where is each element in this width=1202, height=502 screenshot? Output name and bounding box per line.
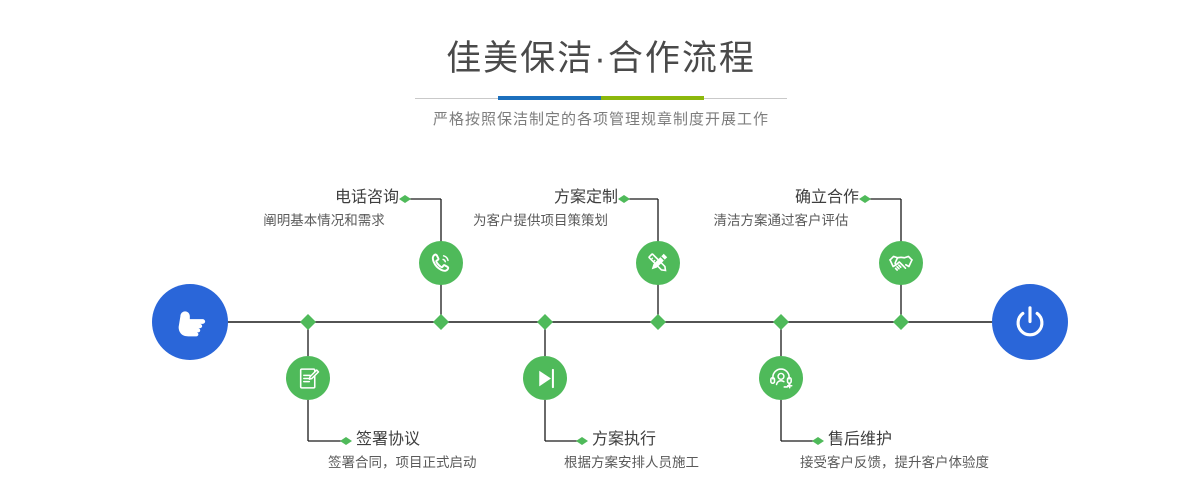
spine-diamond-5 bbox=[893, 314, 909, 330]
step-label-5: 确立合作 清洁方案通过客户评估 bbox=[703, 188, 859, 230]
timeline-diagram: 电话咨询 阐明基本情况和需求 方案定制 为客户提供项目策策划 确立合作 清洁方案… bbox=[0, 0, 1202, 502]
step-node-4[interactable] bbox=[523, 356, 567, 400]
step-label-1: 电话咨询 阐明基本情况和需求 bbox=[249, 188, 399, 230]
step-node-3[interactable] bbox=[636, 241, 680, 285]
timeline-end-node[interactable] bbox=[992, 284, 1068, 360]
step-title-6: 售后维护 bbox=[828, 430, 989, 450]
step-desc-2: 签署合同，项目正式启动 bbox=[328, 453, 477, 472]
step-title-3: 方案定制 bbox=[463, 188, 618, 208]
branch-diamond-1-label bbox=[399, 195, 411, 203]
timeline-start-node[interactable] bbox=[152, 284, 228, 360]
step-node-1[interactable] bbox=[419, 241, 463, 285]
step-label-3: 方案定制 为客户提供项目策策划 bbox=[463, 188, 618, 230]
pencil-ruler-icon bbox=[645, 250, 671, 276]
handshake-icon bbox=[887, 249, 915, 277]
step-node-6[interactable] bbox=[759, 356, 803, 400]
play-execute-icon bbox=[533, 366, 558, 391]
step-title-1: 电话咨询 bbox=[249, 188, 399, 208]
step-desc-3: 为客户提供项目策策划 bbox=[463, 211, 618, 230]
connector-lines bbox=[0, 0, 1202, 502]
step-label-2: 签署协议 签署合同，项目正式启动 bbox=[356, 430, 477, 472]
step-desc-1: 阐明基本情况和需求 bbox=[249, 211, 399, 230]
step-desc-5: 清洁方案通过客户评估 bbox=[703, 211, 859, 230]
step-title-4: 方案执行 bbox=[592, 430, 699, 450]
step-title-2: 签署协议 bbox=[356, 430, 477, 450]
branch-diamond-3-label bbox=[618, 195, 630, 203]
step-node-2[interactable] bbox=[286, 356, 330, 400]
step-title-5: 确立合作 bbox=[703, 188, 859, 208]
branch-diamond-5-label bbox=[859, 195, 871, 203]
step-label-6: 售后维护 接受客户反馈，提升客户体验度 bbox=[828, 430, 989, 472]
spine-diamond-4 bbox=[537, 314, 553, 330]
spine-diamond-1 bbox=[433, 314, 449, 330]
process-flow-infographic: 佳美保洁·合作流程 严格按照保洁制定的各项管理规章制度开展工作 bbox=[0, 0, 1202, 502]
branch-diamond-6-label bbox=[812, 437, 824, 445]
step-desc-6: 接受客户反馈，提升客户体验度 bbox=[800, 453, 989, 472]
step-node-5[interactable] bbox=[879, 241, 923, 285]
step-desc-4: 根据方案安排人员施工 bbox=[564, 453, 699, 472]
branch-diamond-4-label bbox=[576, 437, 588, 445]
pointing-hand-icon bbox=[169, 301, 211, 343]
step-label-4: 方案执行 根据方案安排人员施工 bbox=[592, 430, 699, 472]
spine-diamond-2 bbox=[300, 314, 316, 330]
customer-service-headset-icon bbox=[768, 365, 794, 391]
spine-diamond-3 bbox=[650, 314, 666, 330]
phone-call-icon bbox=[428, 250, 454, 276]
branch-diamond-2-label bbox=[340, 437, 352, 445]
spine-diamond-6 bbox=[773, 314, 789, 330]
document-pencil-icon bbox=[296, 366, 321, 391]
power-button-icon bbox=[1008, 300, 1052, 344]
